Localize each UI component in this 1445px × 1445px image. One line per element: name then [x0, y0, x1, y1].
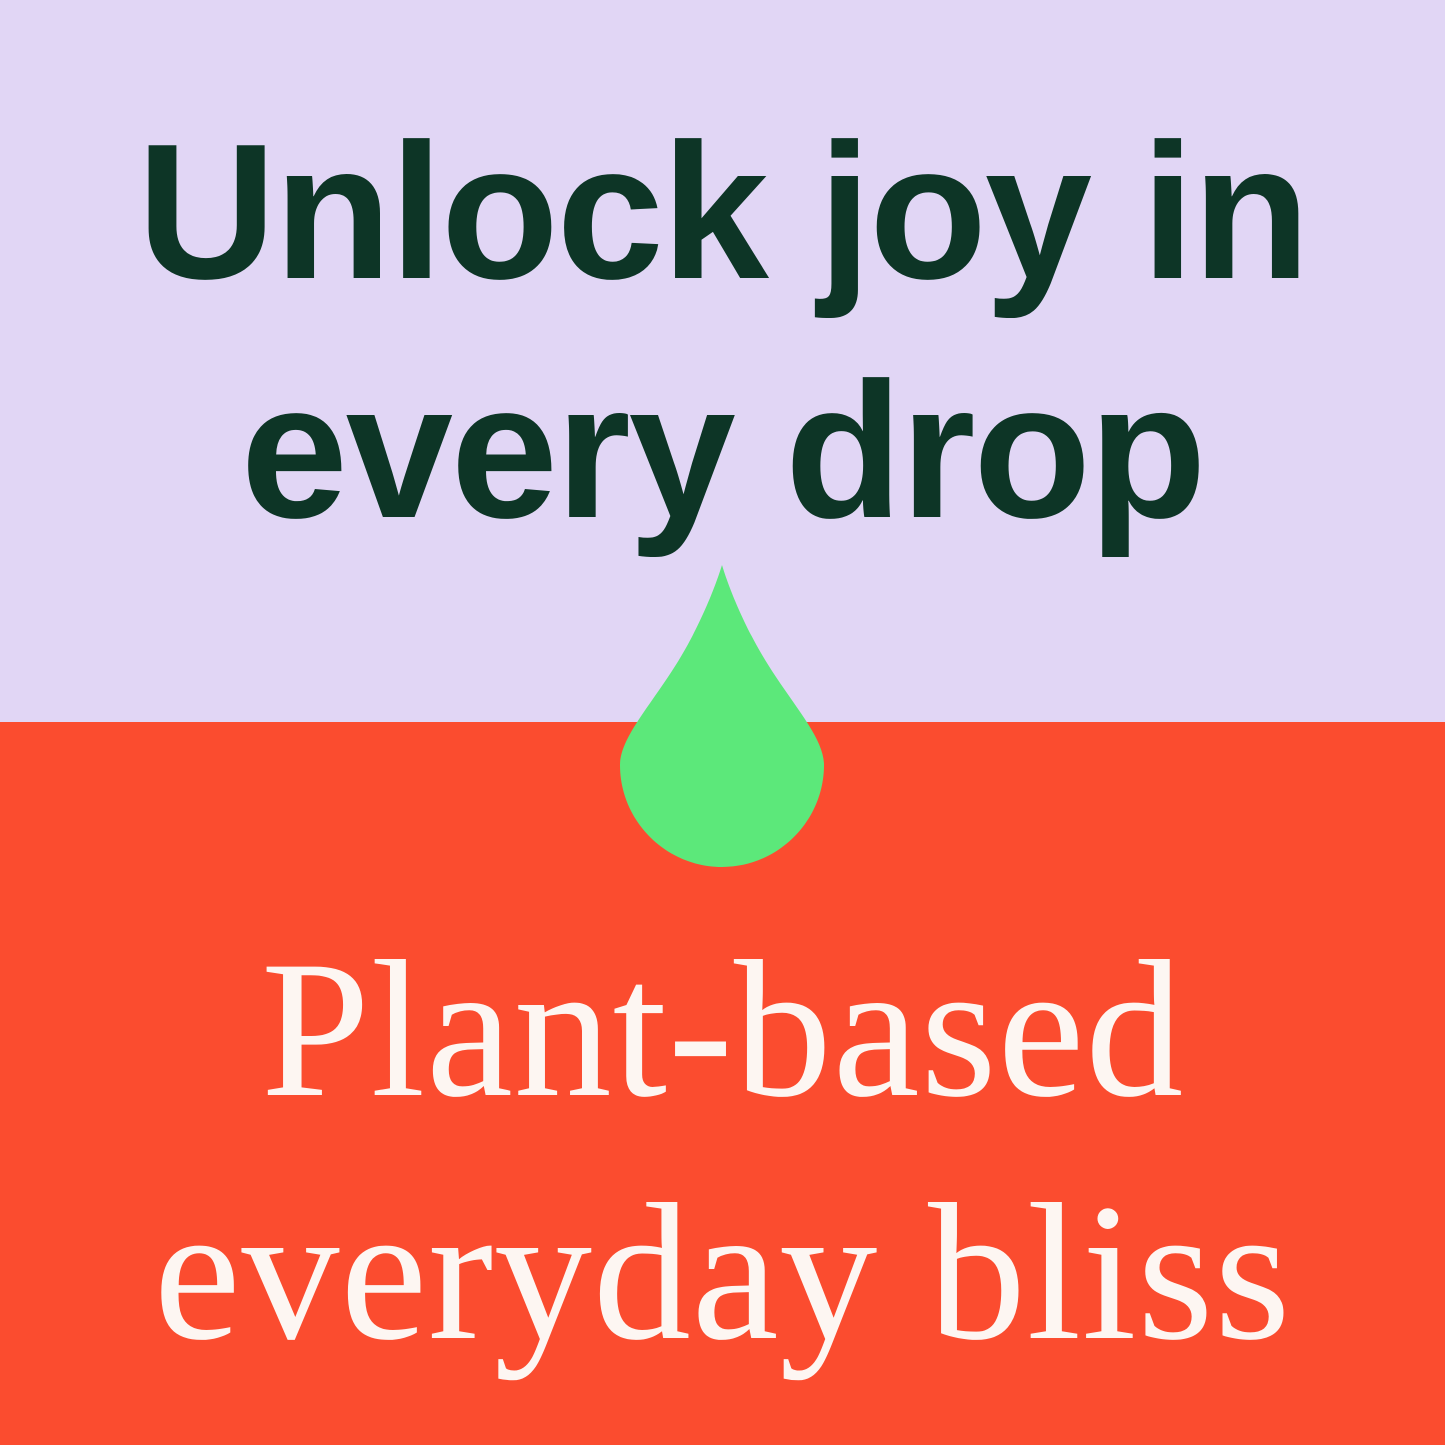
- water-drop-icon: [620, 565, 824, 867]
- subheadline: Plant-based everyday bliss: [0, 908, 1445, 1394]
- subheadline-line-1: Plant-based: [0, 908, 1445, 1151]
- headline-line-1: Unlock joy in: [0, 92, 1445, 331]
- headline-line-2: every drop: [0, 331, 1445, 570]
- promo-poster: Unlock joy in every drop Plant-based eve…: [0, 0, 1445, 1445]
- headline: Unlock joy in every drop: [0, 92, 1445, 571]
- subheadline-line-2: everyday bliss: [0, 1151, 1445, 1394]
